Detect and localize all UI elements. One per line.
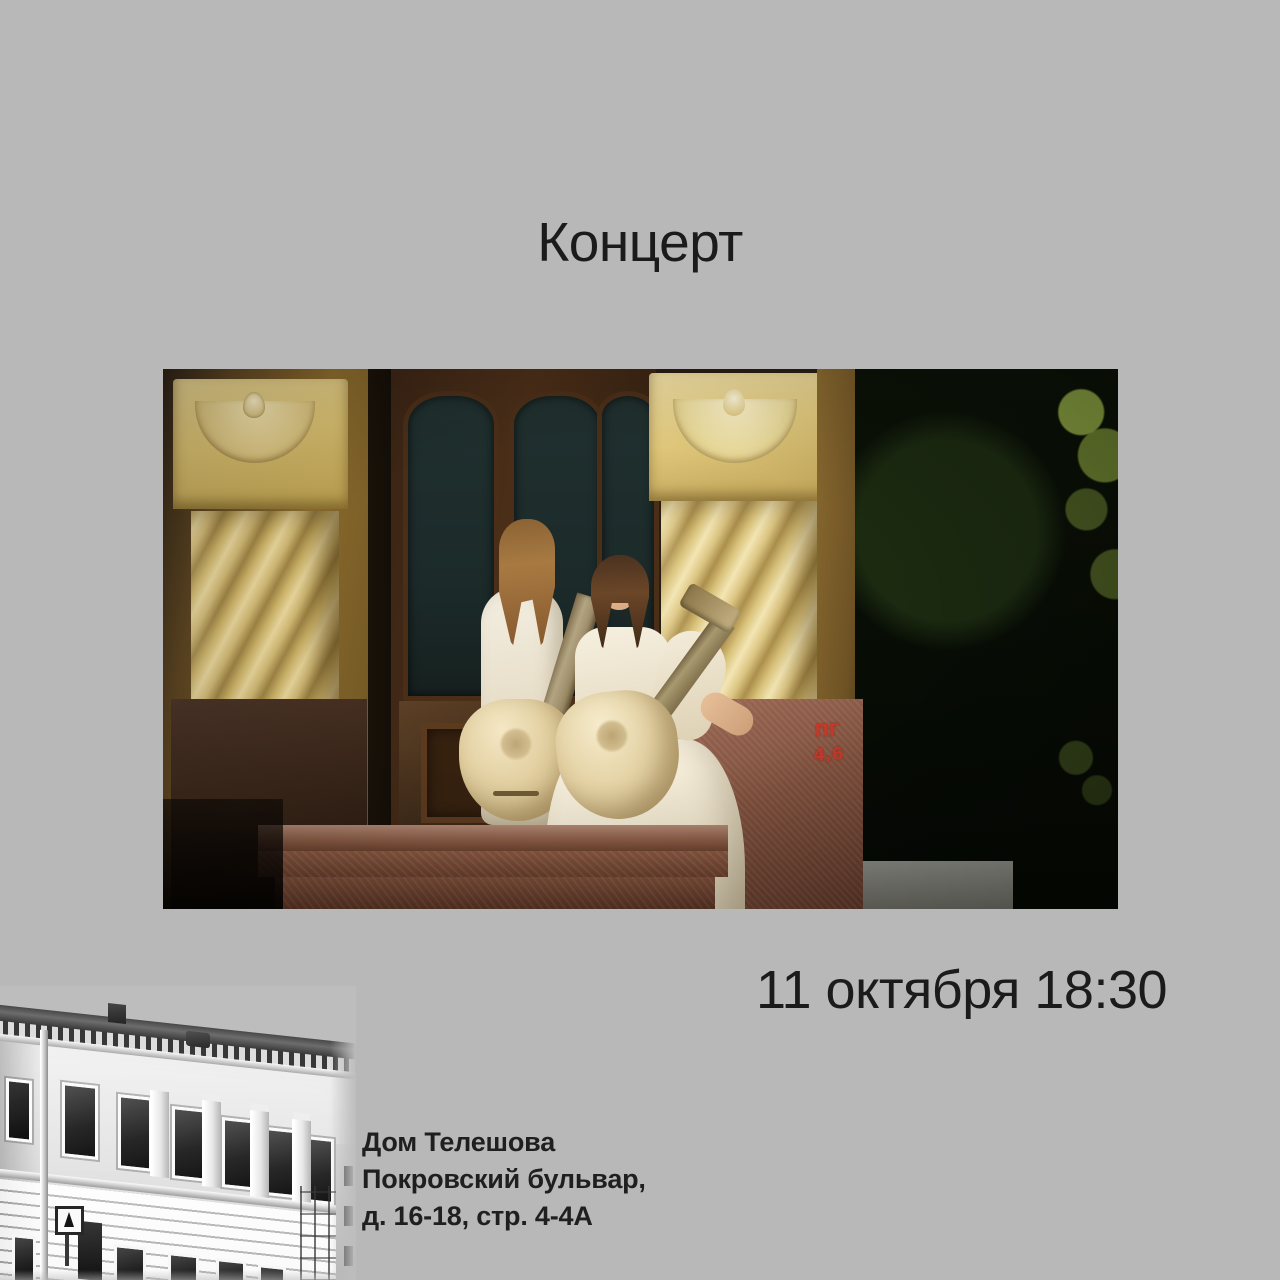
building-window bbox=[172, 1106, 205, 1182]
venue-address: Дом Телешова Покровский бульвар, д. 16-1… bbox=[362, 1124, 646, 1235]
building-pilaster bbox=[202, 1100, 221, 1188]
graffiti-line-1: ПГ bbox=[807, 718, 848, 744]
photo-capital-right bbox=[649, 373, 835, 501]
venue-building-photo bbox=[0, 986, 356, 1280]
photo-lute-front-rosette bbox=[595, 719, 629, 753]
building-window bbox=[6, 1078, 32, 1143]
venue-building-number: д. 16-18, стр. 4-4А bbox=[362, 1198, 646, 1235]
photo-capital-left-fan bbox=[195, 401, 315, 463]
photo-foliage bbox=[855, 369, 1118, 909]
poster-canvas: Концерт «Лютневая музыка эпохи ренессанс… bbox=[0, 0, 1280, 1280]
photo-capital-left bbox=[173, 379, 348, 509]
building-pilaster bbox=[150, 1090, 169, 1178]
building-chimney bbox=[108, 1003, 126, 1024]
building-window bbox=[62, 1082, 98, 1160]
building-window bbox=[118, 1094, 152, 1172]
building-pilaster bbox=[250, 1110, 269, 1198]
venue-name: Дом Телешова bbox=[362, 1124, 646, 1161]
photo-step-face bbox=[258, 851, 728, 877]
photo-graffiti: ПГ 4,6 bbox=[807, 718, 850, 772]
graffiti-line-2: 4,6 bbox=[808, 742, 849, 768]
title-line-1: Концерт bbox=[0, 206, 1280, 278]
event-date-time: 11 октября 18:30 bbox=[756, 958, 1226, 1022]
building-window bbox=[222, 1117, 253, 1190]
pedestrian-crossing-icon bbox=[55, 1206, 84, 1235]
building-downpipe bbox=[40, 1030, 48, 1280]
photo-lute-back-rosette bbox=[499, 727, 533, 761]
building-chimney bbox=[186, 1031, 210, 1049]
venue-street: Покровский бульвар, bbox=[362, 1161, 646, 1198]
photo-step-face bbox=[275, 877, 715, 909]
photo-capital-right-fan bbox=[673, 399, 797, 463]
photo-shadow bbox=[163, 799, 283, 909]
building-right-fade bbox=[330, 986, 356, 1280]
building-bottom-fade bbox=[0, 1270, 356, 1280]
photo-concrete-slab bbox=[863, 861, 1013, 909]
concert-photo: ПГ 4,6 bbox=[163, 369, 1118, 909]
photo-step-top bbox=[258, 825, 728, 851]
photo-lute-back-bridge bbox=[493, 791, 539, 796]
